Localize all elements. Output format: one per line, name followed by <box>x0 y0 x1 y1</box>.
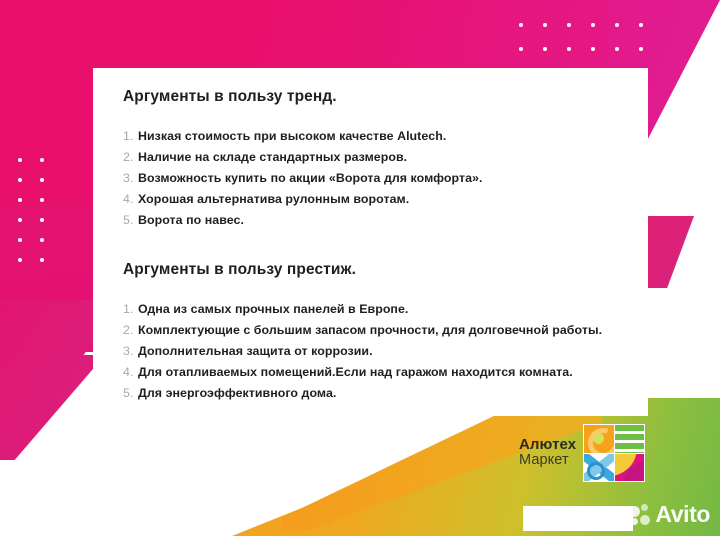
list-item-text: Хорошая альтернатива рулонным воротам. <box>138 189 409 210</box>
list-item-text: Низкая стоимость при высоком качестве Al… <box>138 126 446 147</box>
list-item-text: Одна из самых прочных панелей в Европе. <box>138 299 408 320</box>
list-item-text: Для отапливаемых помещений.Если над гара… <box>138 362 573 383</box>
list-item: 5. Для энергоэффективного дома. <box>123 383 620 404</box>
list-item-number: 2. <box>123 147 138 168</box>
blue-x-icon <box>584 454 614 482</box>
list-item-number: 1. <box>123 126 138 147</box>
brand-logo-text: Алютех Маркет <box>519 437 576 469</box>
content-card: Аргументы в пользу тренд. 1. Низкая стои… <box>93 68 648 416</box>
list-item-text: Наличие на складе стандартных размеров. <box>138 147 407 168</box>
list-item: 1. Низкая стоимость при высоком качестве… <box>123 126 620 147</box>
brand-name-line2: Маркет <box>519 453 576 469</box>
list-item-number: 3. <box>123 168 138 189</box>
list-item-number: 4. <box>123 189 138 210</box>
list-item-number: 5. <box>123 210 138 231</box>
section-title-prestige: Аргументы в пользу престиж. <box>123 261 620 279</box>
avito-watermark: Avito <box>629 503 710 526</box>
list-item: 2. Комплектующие с большим запасом прочн… <box>123 320 620 341</box>
avito-wordmark: Avito <box>655 503 710 526</box>
slide-canvas: Аргументы в пользу тренд. 1. Низкая стои… <box>0 0 720 536</box>
green-stripes-icon <box>615 425 645 453</box>
magenta-petal-icon <box>615 454 645 482</box>
list-item-number: 3. <box>123 341 138 362</box>
argument-list-prestige: 1. Одна из самых прочных панелей в Европ… <box>123 299 620 404</box>
list-item-text: Для энергоэффективного дома. <box>138 383 336 404</box>
list-item: 3. Возможность купить по акции «Ворота д… <box>123 168 620 189</box>
brand-logo: Алютех Маркет <box>519 424 645 482</box>
dot-grid-top-icon <box>519 23 663 71</box>
list-item: 4. Хорошая альтернатива рулонным воротам… <box>123 189 620 210</box>
list-item-number: 5. <box>123 383 138 404</box>
argument-list-trend: 1. Низкая стоимость при высоком качестве… <box>123 126 620 231</box>
section-trend: Аргументы в пользу тренд. 1. Низкая стои… <box>123 88 620 231</box>
list-item: 3. Дополнительная защита от коррозии. <box>123 341 620 362</box>
pink-band-lower-shape <box>0 355 105 460</box>
list-item-text: Комплектующие с большим запасом прочност… <box>138 320 602 341</box>
dot-grid-left-icon <box>18 158 62 278</box>
list-item-number: 2. <box>123 320 138 341</box>
list-item-number: 1. <box>123 299 138 320</box>
list-item: 1. Одна из самых прочных панелей в Европ… <box>123 299 620 320</box>
section-prestige: Аргументы в пользу престиж. 1. Одна из с… <box>123 261 620 404</box>
list-item: 2. Наличие на складе стандартных размеро… <box>123 147 620 168</box>
list-item-text: Дополнительная защита от коррозии. <box>138 341 373 362</box>
section-title-trend: Аргументы в пользу тренд. <box>123 88 620 106</box>
blank-text-box <box>523 506 633 531</box>
list-item-number: 4. <box>123 362 138 383</box>
orange-swirl-icon <box>584 425 614 453</box>
avito-logo-icon <box>629 504 651 526</box>
list-item: 4. Для отапливаемых помещений.Если над г… <box>123 362 620 383</box>
list-item-text: Возможность купить по акции «Ворота для … <box>138 168 482 189</box>
list-item-text: Ворота по навес. <box>138 210 244 231</box>
brand-logo-mark <box>583 424 645 482</box>
list-item: 5. Ворота по навес. <box>123 210 620 231</box>
brand-name-line1: Алютех <box>519 437 576 453</box>
